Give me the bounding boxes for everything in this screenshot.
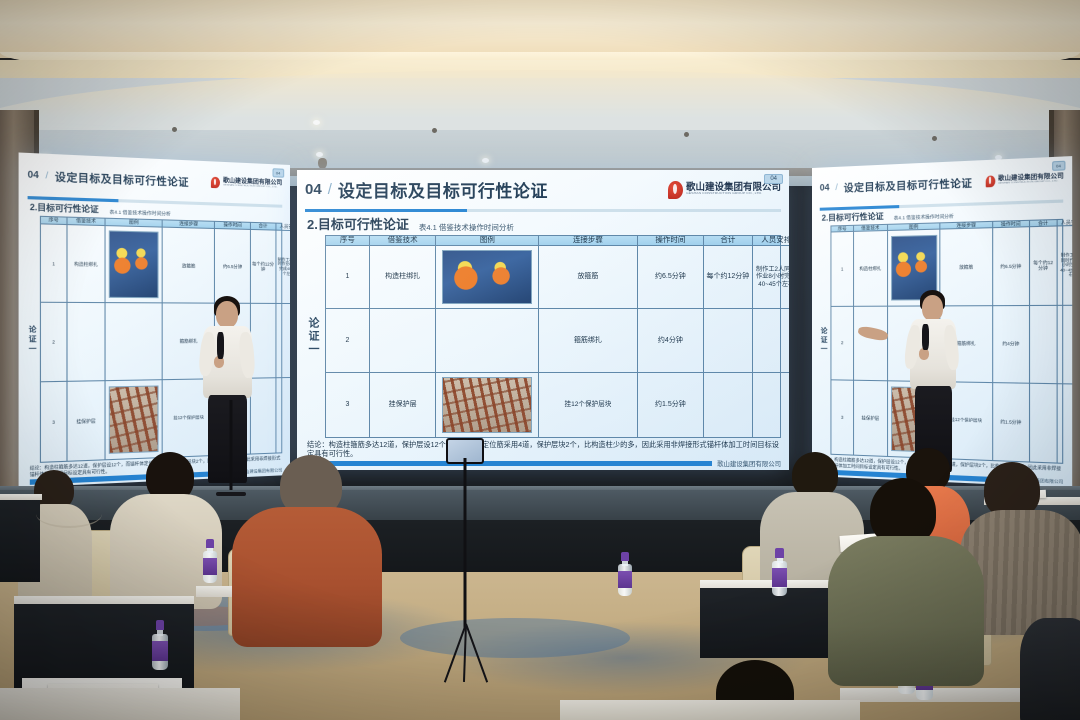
cell-staff: 制作工2人同时作业8小时完成40~45个左右 <box>753 246 789 310</box>
analysis-table: 序号 借鉴技术 图例 连接步骤 操作时间 合计 人员安排 1 构造柱绑扎 放箍筋… <box>325 235 781 438</box>
slide-section-number: 04 <box>820 182 830 192</box>
rebar-cage-photo <box>109 386 158 454</box>
th-no: 序号 <box>326 236 370 246</box>
cell-staff-span <box>276 378 290 453</box>
cell-staff-span <box>753 373 789 437</box>
bottle-label <box>772 568 787 587</box>
table-row: 1 构造柱绑扎 放箍筋 约6.5分钟 每个约12分钟 制作工2人同时作业8小时完… <box>326 246 780 310</box>
handheld-microphone-icon <box>922 324 929 350</box>
slide-badge: 04 <box>764 174 783 184</box>
tripod[interactable] <box>432 438 498 688</box>
slide-title: 设定目标及目标可行性论证 <box>338 177 548 202</box>
bottle-label <box>203 558 217 576</box>
cell-total: 每个约12分钟 <box>251 230 277 305</box>
downlight-icon <box>313 120 320 125</box>
workers-rebar-photo <box>109 231 158 298</box>
slide-title: 设定目标及目标可行性论证 <box>844 174 973 195</box>
th-total: 合计 <box>704 236 752 246</box>
water-bottle[interactable] <box>772 548 787 596</box>
audience-member <box>232 455 378 635</box>
slide-header: 04 / 设定目标及目标可行性论证 歌山建设集团有限公司 GESHAN CONS… <box>297 170 789 209</box>
flame-logo-icon <box>668 181 683 199</box>
tripod-pole <box>464 458 467 628</box>
sprinkler-icon <box>684 132 689 137</box>
sprinkler-icon <box>172 127 177 132</box>
cell-no: 3 <box>831 380 854 455</box>
downlight-icon <box>482 158 489 163</box>
cell-tech <box>370 309 437 373</box>
cell-tech: 构造柱绑扎 <box>854 231 888 306</box>
bottle-cap <box>156 620 165 630</box>
company-logo: 歌山建设集团有限公司 GESHAN CONSTRUCTION GROUP CO.… <box>985 172 1064 187</box>
table-row: 3 挂保护层 挂12个保护层块 约1.5分钟 <box>326 373 780 437</box>
logo-name-en: GESHAN CONSTRUCTION GROUP CO., LTD. <box>686 193 781 196</box>
bottle-cap <box>206 539 214 548</box>
th-step: 连接步骤 <box>539 236 637 246</box>
slide-badge: 04 <box>272 168 284 178</box>
cell-tech: 构造柱绑扎 <box>67 225 105 304</box>
cell-time: 约6.5分钟 <box>993 228 1030 306</box>
cell-figure <box>436 246 539 310</box>
cell-time: 约4分钟 <box>638 309 705 373</box>
downlight-icon <box>316 152 323 157</box>
bottle-cap <box>775 548 783 558</box>
handheld-microphone-icon <box>217 332 224 359</box>
cell-total-span <box>704 373 752 437</box>
audience-member <box>828 478 978 678</box>
cell-time: 约1.5分钟 <box>638 373 705 437</box>
header-rule <box>305 209 781 212</box>
cell-no: 3 <box>326 373 370 437</box>
presenter-head <box>922 295 943 321</box>
th-tech: 借鉴技术 <box>370 236 437 246</box>
cell-time: 约6.5分钟 <box>215 229 250 305</box>
ceiling <box>0 0 1080 58</box>
bottle-cap <box>621 552 629 561</box>
cell-staff-span <box>1058 305 1073 384</box>
bottle-label <box>618 571 632 589</box>
slide-body: 论证一 序号 借鉴技术 图例 连接步骤 操作时间 合计 人员安排 1 构造柱绑扎 <box>297 233 789 438</box>
cell-time: 约6.5分钟 <box>638 246 705 310</box>
cell-figure <box>436 373 539 437</box>
podium-top <box>0 494 42 500</box>
desk <box>700 588 830 658</box>
slide-separator: / <box>45 170 48 181</box>
audience-body <box>828 536 984 686</box>
cell-total-span <box>1030 306 1058 385</box>
cell-staff-span <box>753 309 789 373</box>
workers-rebar-photo <box>442 250 532 305</box>
cell-total-span <box>704 309 752 373</box>
cell-no: 2 <box>831 306 854 380</box>
th-time: 操作时间 <box>638 236 705 246</box>
cell-no: 2 <box>326 309 370 373</box>
slide-separator: / <box>835 182 837 192</box>
flame-logo-icon <box>211 176 220 188</box>
podium <box>0 498 40 582</box>
audience-member <box>110 452 218 602</box>
sprinkler-icon <box>932 136 937 141</box>
water-bottle[interactable] <box>618 552 632 596</box>
company-logo: 歌山建设集团有限公司 GESHAN CONSTRUCTION GROUP CO.… <box>211 176 282 190</box>
bottle-label <box>152 641 168 661</box>
table-row: 2 箍筋绑扎 约4分钟 <box>326 309 780 373</box>
slide-section-number: 04 <box>28 169 39 180</box>
cell-figure <box>106 226 163 304</box>
sprinkler-icon <box>432 128 437 133</box>
flame-logo-icon <box>985 175 995 187</box>
cell-staff: 制作工2人同时作业8小时完成40~45个左右 <box>1058 226 1073 305</box>
cell-total: 每个约12分钟 <box>1030 227 1058 306</box>
foreground-desk <box>560 700 860 720</box>
table-header-row: 序号 借鉴技术 图例 连接步骤 操作时间 合计 人员安排 <box>326 236 780 246</box>
cell-no: 3 <box>41 382 67 462</box>
water-bottle[interactable] <box>203 539 217 583</box>
cell-no: 1 <box>326 246 370 310</box>
cell-step: 箍筋绑扎 <box>539 309 637 373</box>
cell-time: 约1.5分钟 <box>993 383 1030 462</box>
cell-staff-span <box>276 304 290 378</box>
cell-time: 约4分钟 <box>993 306 1030 384</box>
cell-figure <box>106 381 163 460</box>
assistant-figure <box>852 322 892 432</box>
slide-title: 设定目标及目标可行性论证 <box>55 168 189 189</box>
slide-section-number: 04 <box>305 181 322 198</box>
slide-badge: 04 <box>1052 161 1066 171</box>
cell-tech: 构造柱绑扎 <box>370 246 437 310</box>
logo-name-en: GESHAN CONSTRUCTION GROUP CO., LTD. <box>998 180 1064 185</box>
side-label: 论证一 <box>816 226 831 456</box>
cell-step: 挂12个保护层块 <box>539 373 637 437</box>
cell-staff: 制作工2人同时作业8小时完成40~45个左右 <box>276 230 290 304</box>
rebar-cage-photo <box>442 377 532 433</box>
slide-separator: / <box>328 181 332 198</box>
foreground-desk <box>0 688 240 720</box>
slide-subtitle: 2.目标可行性论证 <box>307 214 409 233</box>
table-caption: 表4.1 借鉴技术操作时间分析 <box>419 222 514 233</box>
side-label: 论证一 <box>301 235 325 438</box>
cell-total-span <box>1030 384 1058 463</box>
cell-figure <box>106 304 163 382</box>
cell-no: 1 <box>41 224 67 304</box>
logo-name-en: GESHAN CONSTRUCTION GROUP CO., LTD. <box>223 184 282 188</box>
cell-no: 1 <box>831 232 854 306</box>
cell-total: 每个约12分钟 <box>704 246 752 310</box>
th-staff: 人员安排 <box>753 236 789 246</box>
cell-figure <box>436 309 539 373</box>
th-figure: 图例 <box>436 236 539 246</box>
side-label: 论证一 <box>23 216 40 464</box>
water-bottle[interactable] <box>152 620 168 670</box>
cell-tech: 挂保护层 <box>67 382 105 461</box>
cell-tech: 挂保护层 <box>370 373 437 437</box>
cell-no: 2 <box>41 303 67 382</box>
cell-tech <box>67 303 105 382</box>
table-row: 1 构造柱绑扎 放箍筋 约6.5分钟 每个约12分钟 制作工2人同时作业8小时完… <box>41 224 281 304</box>
cell-step: 放箍筋 <box>163 227 216 304</box>
slide-subtitle-row: 2.目标可行性论证 表4.1 借鉴技术操作时间分析 <box>297 214 789 233</box>
cell-staff-span <box>1058 384 1073 464</box>
audience-body <box>1020 618 1080 720</box>
presenter-head <box>216 301 238 328</box>
screenshot-root: 04 / 设定目标及目标可行性论证 歌山建设集团有限公司 GESHAN CONS… <box>0 0 1080 720</box>
pointing-arm <box>857 325 889 342</box>
tripod-leg <box>465 624 488 683</box>
audience-member <box>1020 618 1080 720</box>
audience-body <box>232 507 382 647</box>
cell-step: 放箍筋 <box>539 246 637 310</box>
center-screen[interactable]: 04 / 设定目标及目标可行性论证 歌山建设集团有限公司 GESHAN CONS… <box>297 170 789 470</box>
cable <box>36 500 102 528</box>
